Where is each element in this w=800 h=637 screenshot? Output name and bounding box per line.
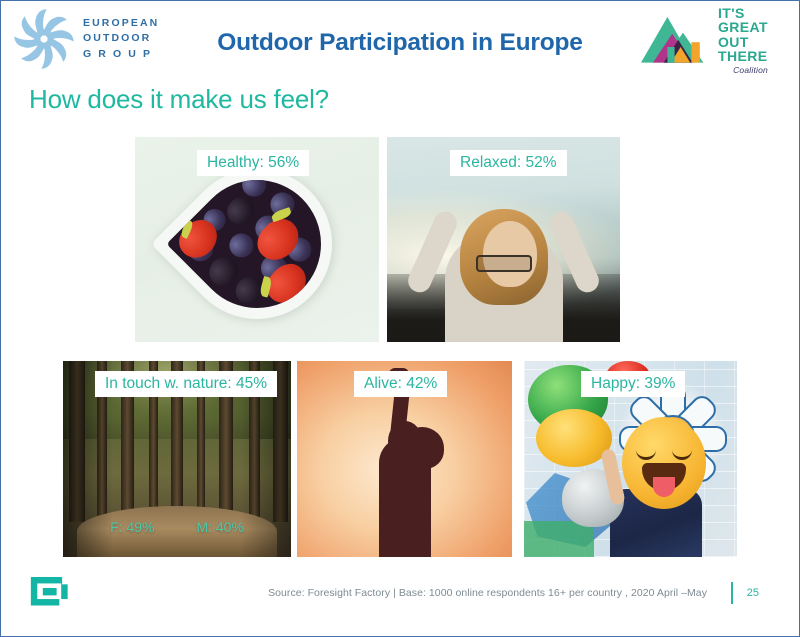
card-image-alive: Alive: 42% — [297, 361, 512, 557]
igot-line-4: THERE — [718, 49, 768, 63]
page-number: 25 — [747, 587, 759, 599]
berries-group — [166, 153, 347, 334]
igot-wordmark: IT'S GREAT OUT THERE Coalition — [718, 4, 768, 75]
card-image-healthy: Healthy: 56% — [135, 137, 379, 342]
source-note: Source: Foresight Factory | Base: 1000 o… — [268, 587, 707, 599]
slide-footer: Source: Foresight Factory | Base: 1000 o… — [1, 562, 799, 636]
slide-header: EUROPEAN OUTDOOR G R O U P Outdoor Parti… — [1, 1, 799, 79]
card-image-relaxed: Relaxed: 52% — [387, 137, 620, 342]
page-separator — [731, 582, 733, 604]
yellow-balloon — [536, 409, 612, 467]
gender-breakdown: F: 49% M: 40% — [63, 519, 291, 535]
slide: EUROPEAN OUTDOOR G R O U P Outdoor Parti… — [0, 0, 800, 637]
head-shape — [483, 221, 537, 287]
igot-line-3: OUT — [718, 35, 768, 49]
card-caption-alive: Alive: 42% — [354, 371, 447, 397]
gender-female-value: F: 49% — [110, 519, 154, 535]
card-caption-happy: Happy: 39% — [581, 371, 685, 397]
its-great-out-there-logo: IT'S GREAT OUT THERE Coalition — [641, 4, 791, 76]
emoji-balloon-icon — [622, 417, 706, 509]
card-caption-healthy: Healthy: 56% — [197, 150, 309, 176]
igot-line-2: GREAT — [718, 20, 768, 34]
card-image-nature: F: 49% M: 40% In touch w. nature: 45% — [63, 361, 291, 557]
head-silhouette — [388, 421, 422, 461]
mountain-tent-icon — [641, 4, 713, 66]
card-caption-nature: In touch w. nature: 45% — [95, 371, 277, 397]
card-image-happy: Happy: 39% — [524, 361, 737, 557]
igot-line-1: IT'S — [718, 6, 768, 20]
glasses-icon — [476, 255, 532, 272]
igot-subtitle: Coalition — [718, 63, 768, 75]
card-caption-relaxed: Relaxed: 52% — [450, 150, 567, 176]
gender-male-value: M: 40% — [196, 519, 243, 535]
section-heading: How does it make us feel? — [29, 84, 329, 115]
ofe-brand-mark-icon — [29, 574, 75, 614]
